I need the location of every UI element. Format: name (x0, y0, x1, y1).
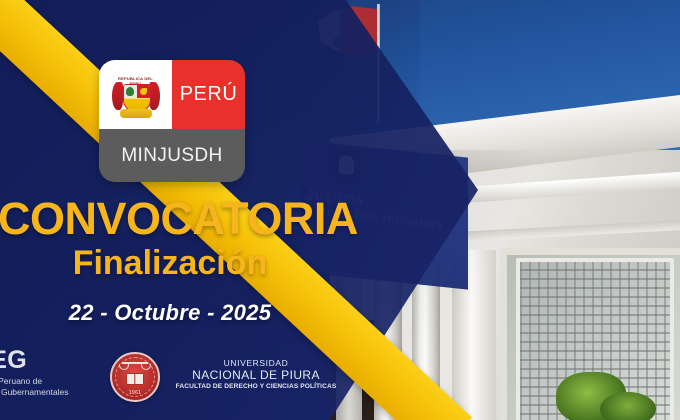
coat-of-arms-panel: REPUBLICA DEL PERU (99, 60, 172, 129)
logo-top-row: REPUBLICA DEL PERU PERÚ (99, 60, 245, 129)
poster-title: CONVOCATORIA (0, 196, 348, 241)
ipeg-logo: IPEG Instituto Peruano de Estudios Guber… (0, 348, 96, 397)
seal-year: 1961 (129, 390, 141, 396)
shield-cornucopia-icon (140, 88, 147, 95)
poster-subtitle: Finalización (0, 246, 340, 280)
ipeg-subtitle-line-2: Estudios Gubernamentales (0, 387, 96, 398)
ministry-label: MINJUSDH (121, 145, 222, 167)
coat-of-arms-base (120, 109, 152, 118)
university-name-block: UNIVERSIDAD NACIONAL DE PIURA FACULTAD D… (166, 358, 346, 391)
ministry-label-panel: MINJUSDH (99, 129, 245, 182)
coat-of-arms-wreath-left (112, 82, 123, 110)
university-line-2: NACIONAL DE PIURA (166, 368, 346, 382)
convocatoria-poster: Justicia y Derechos Humanos REPUBLICA DE… (0, 0, 680, 420)
peru-coat-of-arms-icon: REPUBLICA DEL PERU (111, 70, 161, 120)
peru-label-panel: PERÚ (172, 60, 245, 129)
poster-date: 22 - Octubre - 2025 (0, 300, 340, 326)
peru-label: PERÚ (180, 83, 238, 106)
ipeg-subtitle: Instituto Peruano de Estudios Gubernamen… (0, 376, 96, 397)
shield-tree-icon (126, 87, 134, 96)
coat-of-arms-shield (123, 84, 151, 112)
university-line-1: UNIVERSIDAD (166, 358, 346, 368)
unp-seal-icon: 1961 (110, 352, 160, 402)
book-icon (126, 373, 144, 385)
university-line-3: FACULTAD DE DERECHO Y CIENCIAS POLÍTICAS (166, 383, 346, 391)
ipeg-name: IPEG (0, 348, 96, 373)
minjusdh-logo: REPUBLICA DEL PERU PERÚ MINJUSDH (99, 60, 245, 182)
ipeg-subtitle-line-1: Instituto Peruano de (0, 376, 96, 387)
